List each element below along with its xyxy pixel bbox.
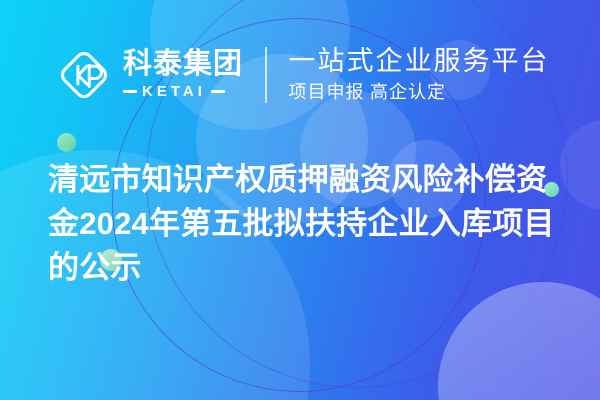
ketai-diamond-kp-logo-icon <box>56 47 112 103</box>
brand-logo-wordmark: 科泰集团 KETAI <box>123 50 243 100</box>
decorative-bubble-large-right <box>438 282 600 400</box>
tagline: 一站式企业服务平台 项目申报 高企认定 <box>289 46 550 104</box>
announcement-banner: 科泰集团 KETAI 一站式企业服务平台 项目申报 高企认定 清远市知识产权质押… <box>0 0 600 400</box>
brand-name-en-row: KETAI <box>123 83 243 100</box>
wordmark-dash-left <box>123 90 137 93</box>
brand-name-cn: 科泰集团 <box>123 50 243 80</box>
brand-name-en: KETAI <box>142 83 206 100</box>
banner-header: 科泰集团 KETAI 一站式企业服务平台 项目申报 高企认定 <box>0 36 600 114</box>
tagline-main: 一站式企业服务平台 <box>289 46 550 77</box>
wordmark-dash-right <box>211 90 225 93</box>
page-title: 清远市知识产权质押融资风险补偿资金2024年第五批拟扶持企业入库项目的公示 <box>48 158 566 290</box>
brand-logo[interactable]: 科泰集团 KETAI <box>56 47 243 103</box>
tagline-sub: 项目申报 高企认定 <box>289 81 550 104</box>
decorative-bubble-small-right <box>560 120 600 210</box>
header-divider <box>265 47 267 103</box>
decorative-green-dot-1 <box>57 133 76 152</box>
